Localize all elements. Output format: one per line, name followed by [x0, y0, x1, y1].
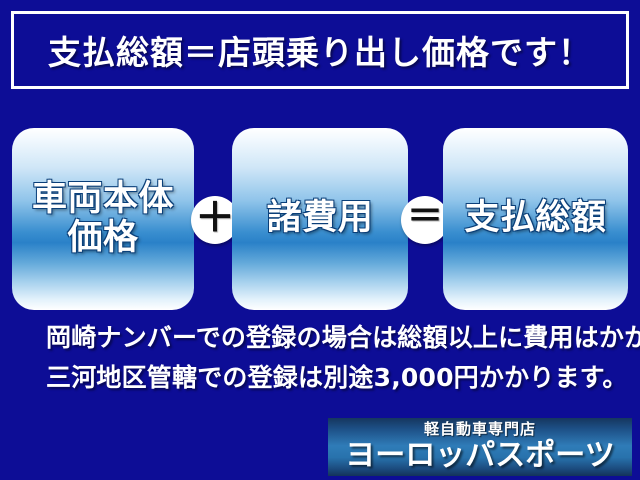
plus-icon: ＋: [195, 198, 235, 238]
header-box: 支払総額＝店頭乗り出し価格です！: [11, 11, 629, 89]
total-payment-box: 支払総額: [443, 128, 628, 310]
miscellaneous-fees-box: 諸費用: [232, 128, 408, 310]
vehicle-body-price-label: 車両本体 価格: [32, 180, 174, 258]
price-formula-row: 車両本体 価格 ＋ 諸費用 ＝ 支払総額: [0, 128, 640, 310]
vehicle-body-price-box: 車両本体 価格: [12, 128, 194, 310]
shop-logo-banner: 軽自動車専門店 ヨーロッパスポーツ: [328, 418, 632, 476]
equals-icon: ＝: [407, 199, 443, 235]
total-payment-label: 支払総額: [464, 199, 606, 238]
price-explanation-banner: 支払総額＝店頭乗り出し価格です！ 車両本体 価格 ＋ 諸費用 ＝ 支払総額 岡崎…: [0, 0, 640, 480]
note-line-okazaki: 岡崎ナンバーでの登録の場合は総額以上に費用はかかりません。: [0, 318, 640, 358]
notes-block: 岡崎ナンバーでの登録の場合は総額以上に費用はかかりません。 三河地区管轄での登録…: [0, 318, 640, 398]
shop-specialty-label: 軽自動車専門店: [424, 422, 536, 437]
equals-operator-badge: ＝: [401, 196, 449, 244]
miscellaneous-fees-label: 諸費用: [267, 199, 374, 238]
shop-name-label: ヨーロッパスポーツ: [345, 440, 614, 472]
note-line-mikawa: 三河地区管轄での登録は別途3,000円かかります。: [0, 358, 640, 398]
header-title: 支払総額＝店頭乗り出し価格です！: [48, 26, 592, 74]
